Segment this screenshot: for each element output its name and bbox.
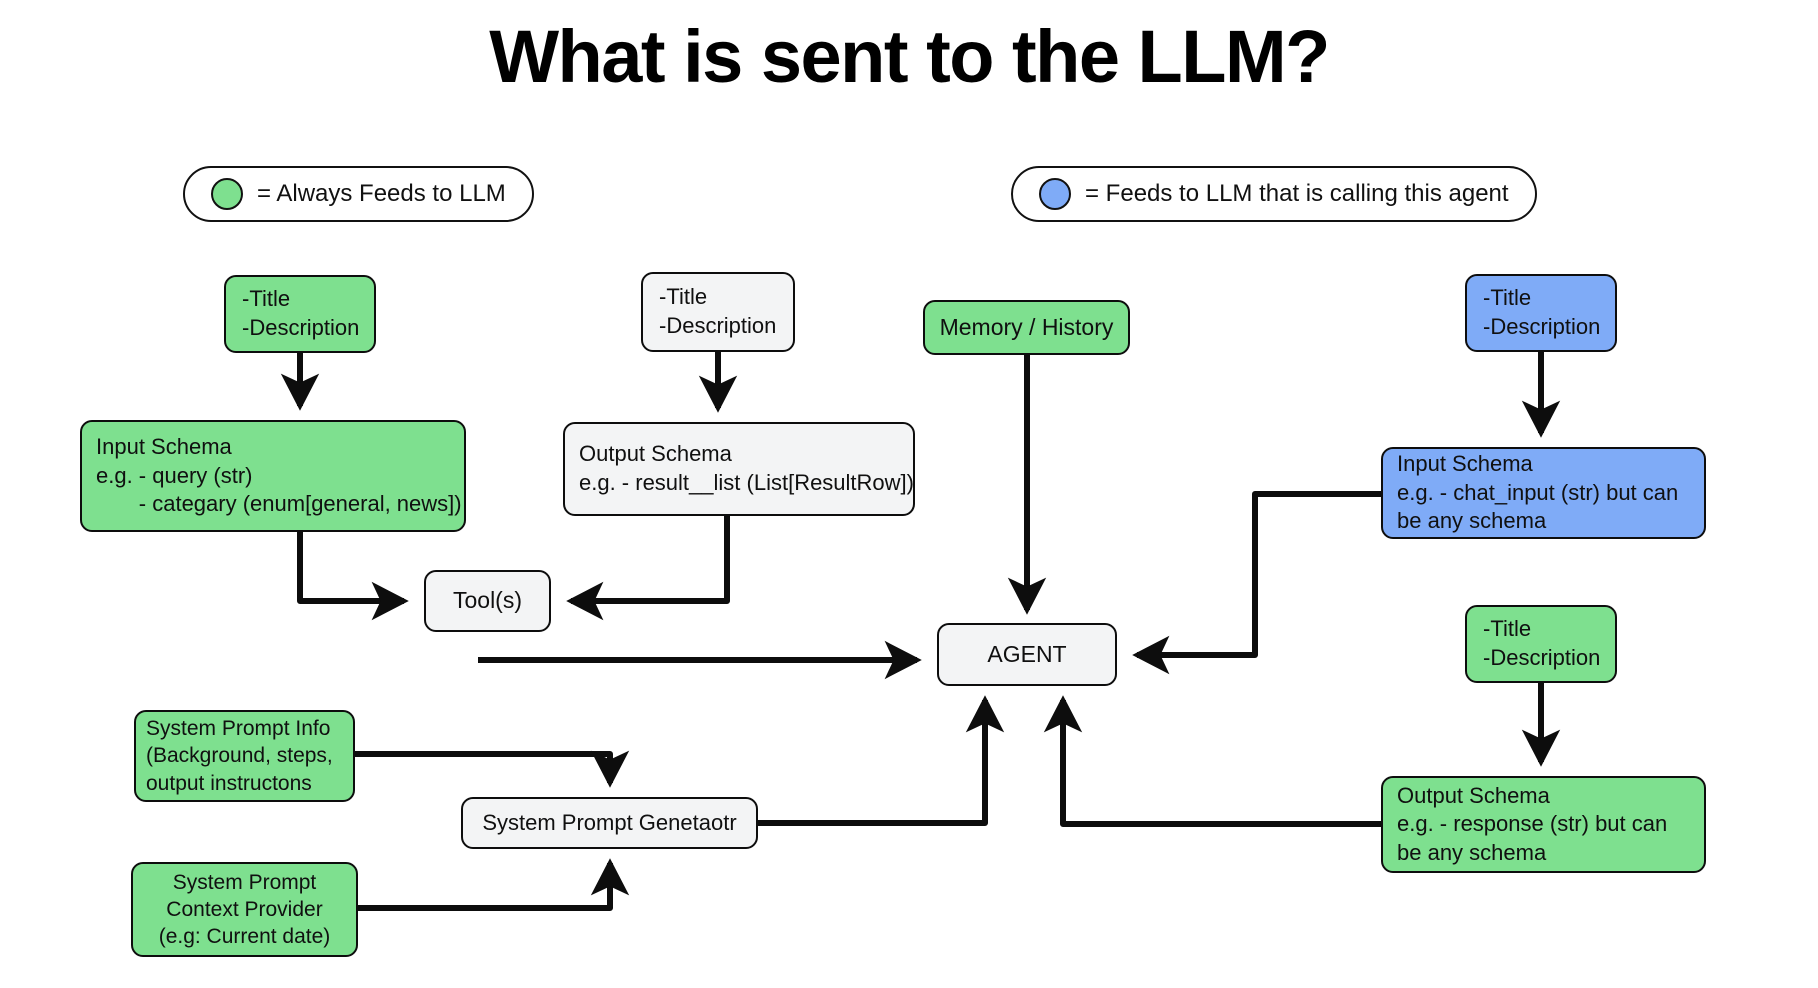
node-line: be any schema bbox=[1397, 839, 1546, 868]
node-line: AGENT bbox=[987, 640, 1066, 670]
node-line: Output Schema bbox=[579, 440, 732, 469]
node-line: (e.g: Current date) bbox=[159, 923, 331, 950]
node-output-title-description: -Title -Description bbox=[641, 272, 795, 352]
node-line: e.g. - chat_input (str) but can bbox=[1397, 479, 1678, 508]
edge-sysprompt-context-to-generator bbox=[358, 863, 610, 908]
edge-output-schema-to-tools bbox=[571, 516, 727, 601]
edge-sysprompt-info-to-generator bbox=[355, 754, 610, 783]
node-line: -Title bbox=[659, 283, 707, 312]
node-line: -Description bbox=[1483, 313, 1600, 342]
node-right-output-title-description: -Title -Description bbox=[1465, 605, 1617, 683]
node-line: e.g. - query (str) bbox=[96, 462, 252, 491]
edge-right-output-schema-to-agent bbox=[1063, 700, 1381, 824]
node-line: System Prompt Genetaotr bbox=[482, 809, 736, 838]
node-system-prompt-context-provider: System Prompt Context Provider (e.g: Cur… bbox=[131, 862, 358, 957]
node-line: Memory / History bbox=[940, 313, 1114, 343]
node-system-prompt-info: System Prompt Info (Background, steps, o… bbox=[134, 710, 355, 802]
node-output-schema: Output Schema e.g. - result__list (List[… bbox=[563, 422, 915, 516]
node-line: Input Schema bbox=[96, 433, 232, 462]
node-line: Input Schema bbox=[1397, 450, 1533, 479]
node-agent: AGENT bbox=[937, 623, 1117, 686]
node-line: - categary (enum[general, news]) bbox=[96, 490, 462, 519]
node-line: Context Provider bbox=[166, 896, 322, 923]
node-input-schema: Input Schema e.g. - query (str) - catega… bbox=[80, 420, 466, 532]
node-memory-history: Memory / History bbox=[923, 300, 1130, 355]
node-line: Tool(s) bbox=[453, 586, 522, 616]
node-line: output instructons bbox=[146, 770, 312, 797]
node-right-input-schema: Input Schema e.g. - chat_input (str) but… bbox=[1381, 447, 1706, 539]
node-line: e.g. - response (str) but can bbox=[1397, 810, 1667, 839]
node-line: Output Schema bbox=[1397, 782, 1550, 811]
node-line: System Prompt bbox=[173, 869, 317, 896]
edge-sysprompt-generator-to-agent bbox=[758, 700, 985, 823]
node-line: -Title bbox=[1483, 284, 1531, 313]
node-line: e.g. - result__list (List[ResultRow]) bbox=[579, 469, 914, 498]
node-tool-title-description: -Title -Description bbox=[224, 275, 376, 353]
edge-input-schema-to-tools bbox=[300, 532, 404, 601]
node-line: -Description bbox=[1483, 644, 1600, 673]
node-line: be any schema bbox=[1397, 507, 1546, 536]
node-line: (Background, steps, bbox=[146, 742, 333, 769]
node-line: -Description bbox=[242, 314, 359, 343]
node-line: -Title bbox=[1483, 615, 1531, 644]
node-line: -Description bbox=[659, 312, 776, 341]
node-line: -Title bbox=[242, 285, 290, 314]
edge-right-input-schema-to-agent bbox=[1137, 494, 1381, 655]
node-system-prompt-generator: System Prompt Genetaotr bbox=[461, 797, 758, 849]
node-right-input-title-description: -Title -Description bbox=[1465, 274, 1617, 352]
node-tools: Tool(s) bbox=[424, 570, 551, 632]
node-line: System Prompt Info bbox=[146, 715, 330, 742]
node-right-output-schema: Output Schema e.g. - response (str) but … bbox=[1381, 776, 1706, 873]
